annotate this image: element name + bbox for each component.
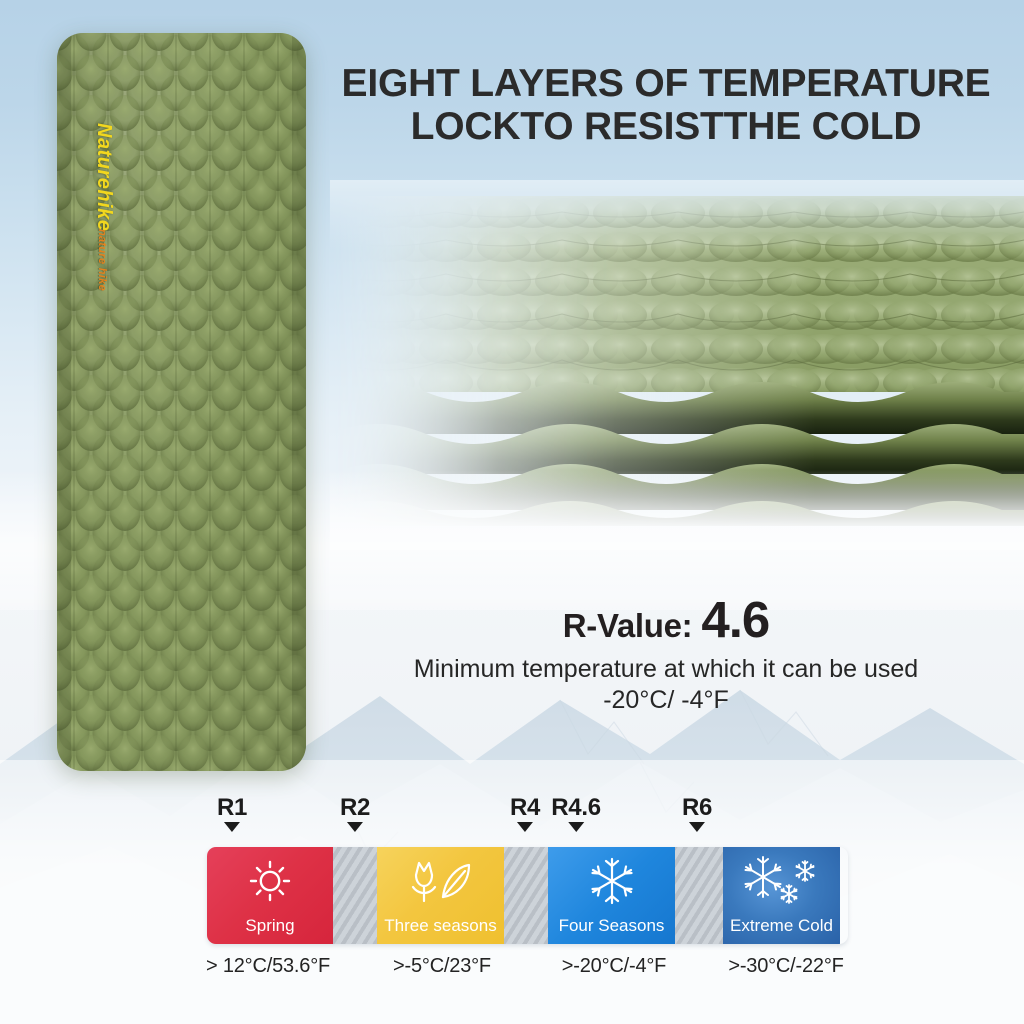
- scale-divider-hatch: [675, 847, 723, 944]
- temperature-range-four-seasons: >-20°C/-4°F: [562, 955, 666, 978]
- temperature-range-spring: > 12°C/53.6°F: [206, 955, 330, 978]
- brand-logo-text: Naturehike: [92, 123, 115, 231]
- scale-marker-label: R6: [682, 795, 712, 821]
- infographic-canvas: Naturehike nature hike EIGHT LAYERS OF T…: [0, 0, 1024, 1024]
- scale-marker-label: R4.6: [551, 795, 601, 821]
- temperature-range-extreme-cold: >-30°C/-22°F: [728, 955, 843, 978]
- r-value-subtitle: Minimum temperature at which it can be u…: [330, 654, 1002, 685]
- scale-markers: R1 R2 R4 R4.6 R6: [0, 795, 1024, 847]
- marker-arrow-icon: [689, 822, 705, 832]
- scale-divider-hatch: [504, 847, 548, 944]
- r-value-number: 4.6: [701, 596, 769, 644]
- r-value-label: R-Value:: [563, 607, 693, 645]
- scale-marker-r2: R2: [340, 795, 370, 832]
- scale-marker-r6: R6: [682, 795, 712, 832]
- scale-marker-r1: R1: [217, 795, 247, 832]
- scale-segment-three-seasons: Three seasons: [377, 847, 504, 944]
- scale-marker-r4: R4: [510, 795, 540, 832]
- r-value-line: R-Value: 4.6: [330, 596, 1002, 645]
- tulip-feather-icon: [377, 856, 504, 906]
- marker-arrow-icon: [224, 822, 240, 832]
- scale-marker-r46: R4.6: [551, 795, 601, 832]
- product-sleeping-pad: Naturehike nature hike: [57, 33, 306, 771]
- segment-label: Extreme Cold: [730, 916, 833, 944]
- scale-marker-label: R4: [510, 795, 540, 821]
- temperature-labels: > 12°C/53.6°F >-5°C/23°F >-20°C/-4°F >-3…: [0, 955, 1024, 995]
- segment-label: Four Seasons: [559, 916, 665, 944]
- scale-segment-four-seasons: Four Seasons: [548, 847, 675, 944]
- marker-arrow-icon: [517, 822, 533, 832]
- r-value-temperature: -20°C/ -4°F: [330, 685, 1002, 715]
- scale-marker-label: R2: [340, 795, 370, 821]
- scale-divider-hatch: [333, 847, 377, 944]
- headline-line-1: EIGHT LAYERS OF TEMPERATURE: [342, 62, 991, 105]
- marker-arrow-icon: [568, 822, 584, 832]
- scale-segment-spring: Spring: [207, 847, 333, 944]
- sun-icon: [207, 856, 333, 906]
- scale-marker-label: R1: [217, 795, 247, 821]
- headline-line-2: LOCKTO RESISTTHE COLD: [330, 105, 1002, 148]
- temperature-range-three-seasons: >-5°C/23°F: [393, 955, 491, 978]
- page-title: EIGHT LAYERS OF TEMPERATURE LOCKTO RESIS…: [330, 62, 1002, 148]
- scale-segment-extreme-cold: Extreme Cold: [723, 847, 840, 944]
- season-scale-bar: Spring Three seasons: [207, 847, 848, 944]
- r-value-scale: R1 R2 R4 R4.6 R6: [0, 795, 1024, 1010]
- brand-logo-subtext: nature hike: [96, 229, 108, 291]
- segment-label: Spring: [245, 916, 294, 944]
- triple-snowflake-icon: [723, 856, 840, 906]
- segment-label: Three seasons: [384, 916, 496, 944]
- marker-arrow-icon: [347, 822, 363, 832]
- r-value-block: R-Value: 4.6 Minimum temperature at whic…: [330, 596, 1002, 715]
- snowflake-icon: [548, 856, 675, 906]
